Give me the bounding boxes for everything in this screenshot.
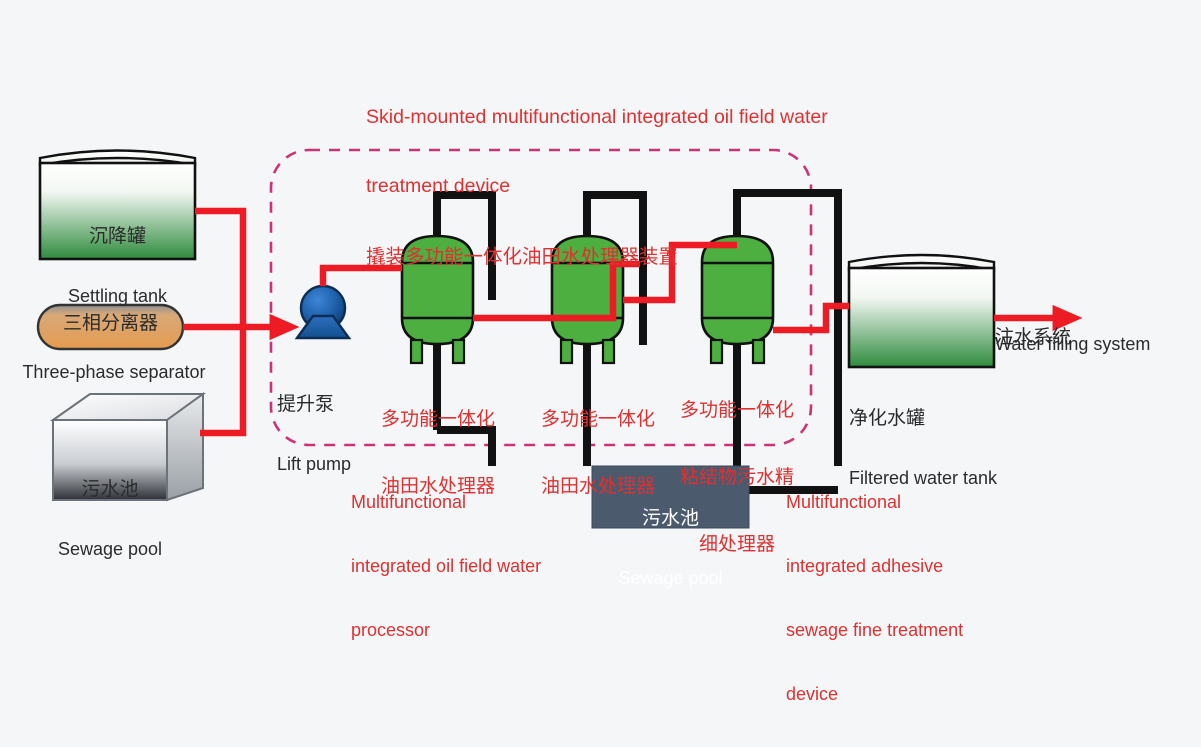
sewage-pool-left-label: 污水池 Sewage pool	[53, 441, 167, 598]
left-caption-line1: Multifunctional	[351, 492, 541, 513]
diagram-canvas: Skid-mounted multifunctional integrated …	[0, 0, 1201, 567]
settling-tank-label-cn: 沉降罐	[40, 226, 195, 248]
water-filling-system-label-en: Water filling system	[995, 334, 1150, 355]
title-en-line1: Skid-mounted multifunctional integrated …	[366, 106, 828, 129]
sewage-pool-center-label-cn: 污水池	[592, 508, 749, 530]
lift-pump-label-cn: 提升泵	[277, 394, 351, 416]
title-en-line2: treatment device	[366, 175, 828, 198]
filtered-water-tank-shape	[849, 255, 994, 367]
lift-pump-label: 提升泵 Lift pump	[277, 356, 351, 513]
filtered-water-tank-label-en: Filtered water tank	[849, 468, 997, 489]
settling-tank-label-en: Settling tank	[40, 286, 195, 307]
three-phase-separator-label-cn: 三相分离器	[38, 313, 183, 335]
red-from-settling-tank	[195, 211, 243, 325]
vessel-1-label-line1: 多功能一体化	[377, 409, 499, 431]
title-block: Skid-mounted multifunctional integrated …	[366, 60, 828, 315]
sewage-pool-left-label-cn: 污水池	[53, 479, 167, 501]
left-caption-line3: processor	[351, 620, 541, 641]
vessel-2-label-line1: 多功能一体化	[537, 409, 659, 431]
sewage-pool-left-label-en: Sewage pool	[53, 539, 167, 560]
lift-pump-shape	[297, 286, 349, 338]
right-caption-line4: device	[786, 684, 963, 705]
sewage-pool-center-label-en: Sewage pool	[592, 568, 749, 589]
three-phase-separator-label-en: Three-phase separator	[0, 362, 228, 383]
vessel-3-label-line1: 多功能一体化	[676, 400, 798, 422]
filtered-water-tank-label-cn: 净化水罐	[849, 408, 997, 430]
title-cn: 撬装多功能一体化油田水处理器装置	[366, 246, 828, 269]
sewage-pool-center-label: 污水池 Sewage pool	[592, 470, 749, 627]
filtered-water-tank-label: 净化水罐 Filtered water tank	[849, 370, 997, 527]
lift-pump-label-en: Lift pump	[277, 454, 351, 475]
right-caption-line3: sewage fine treatment	[786, 620, 963, 641]
